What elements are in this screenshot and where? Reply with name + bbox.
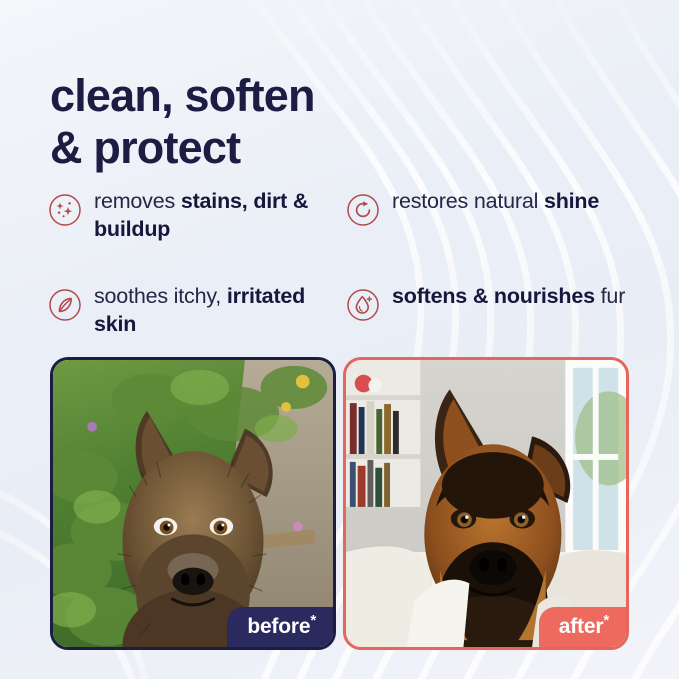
before-tag-label: before [247,615,310,638]
benefit-item-restores-shine: restores natural shine [346,186,636,281]
before-after-comparison: before* [50,357,629,651]
benefit-text: soothes itchy, irritated skin [94,281,338,338]
restore-arrow-icon [346,193,380,227]
after-tag-label: after [559,615,604,638]
product-benefits-panel: clean, soften & protect removes stains, … [0,0,679,679]
leaf-icon [48,288,82,322]
page-title: clean, soften & protect [50,70,470,174]
benefits-list: removes stains, dirt & buildup restores … [48,186,638,376]
benefit-text-bold: softens & nourishes [392,284,595,308]
benefit-text: removes stains, dirt & buildup [94,186,338,243]
after-card: after* [343,357,629,650]
droplet-plus-icon [346,288,380,322]
before-photo [53,360,333,647]
after-tag-asterisk: * [603,612,609,629]
before-tag: before* [227,607,333,647]
after-photo [346,360,626,647]
before-card: before* [50,357,336,650]
benefit-text: restores natural shine [392,186,599,216]
benefit-text: softens & nourishes fur [392,281,625,311]
sparkle-icon [48,193,82,227]
benefit-text-regular: soothes itchy, [94,284,227,308]
benefit-text-regular: removes [94,189,181,213]
benefit-text-bold: shine [544,189,599,213]
before-tag-asterisk: * [310,612,316,629]
after-tag: after* [539,607,626,647]
benefit-text-regular: restores natural [392,189,544,213]
benefit-text-trailing: fur [595,284,625,308]
benefit-item-removes-stains: removes stains, dirt & buildup [48,186,338,281]
